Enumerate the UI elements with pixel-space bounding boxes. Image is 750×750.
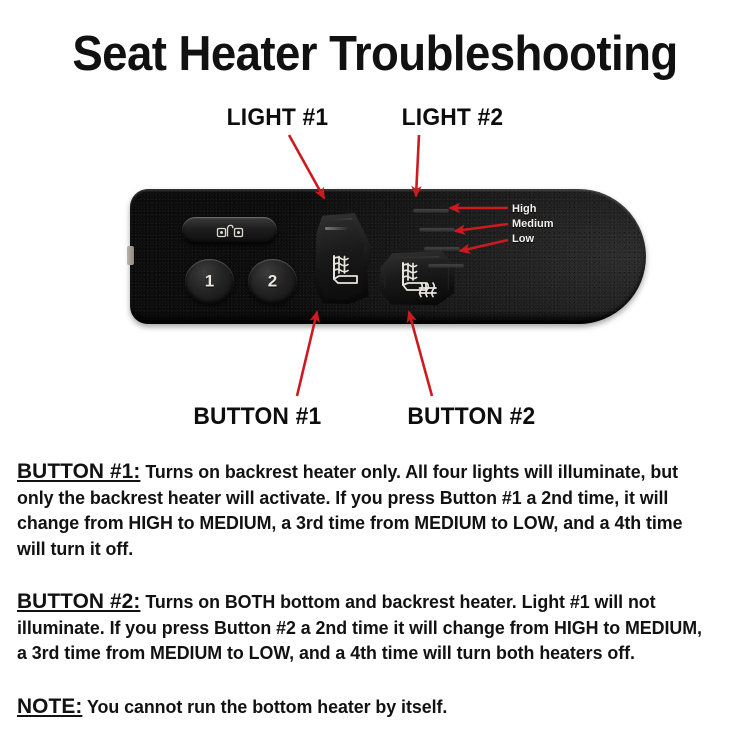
- seat-position-memory-icon: [215, 223, 245, 239]
- arrow-light-1: [289, 135, 324, 198]
- arrow-light-2: [416, 135, 419, 196]
- panel-edge-notch: [127, 246, 134, 265]
- seat-backrest-heat-icon: [322, 249, 364, 293]
- indicator-bar-1: [413, 208, 449, 213]
- memory-preset-button-2[interactable]: 2: [248, 259, 297, 304]
- indicator-bar-2: [419, 227, 455, 232]
- indicator-bar-4: [428, 263, 464, 268]
- seat-memory-pill-button[interactable]: [182, 217, 277, 244]
- level-label-low: Low: [512, 233, 534, 245]
- memory-preset-button-1-label: 1: [185, 271, 234, 291]
- indicator-bar-3: [424, 246, 460, 251]
- memory-preset-button-1[interactable]: 1: [185, 259, 234, 304]
- paragraph-button-2-lead: BUTTON #2:: [17, 589, 140, 613]
- button-1-highlight: [325, 227, 347, 230]
- full-seat-heater-button[interactable]: [379, 251, 454, 305]
- arrow-button-1: [297, 312, 317, 396]
- paragraph-button-2: BUTTON #2: Turns on BOTH bottom and back…: [17, 589, 713, 666]
- seat-heater-troubleshooting-infographic: Seat Heater Troubleshooting LIGHT #1 LIG…: [0, 0, 750, 750]
- level-label-medium: Medium: [512, 218, 554, 230]
- paragraph-note: NOTE: You cannot run the bottom heater b…: [17, 694, 713, 720]
- paragraph-note-body: You cannot run the bottom heater by itse…: [82, 696, 447, 717]
- arrow-level-medium: [455, 224, 508, 231]
- paragraph-note-lead: NOTE:: [17, 694, 82, 718]
- backrest-heater-button[interactable]: [313, 213, 371, 304]
- level-label-high: High: [512, 203, 536, 215]
- paragraph-button-1: BUTTON #1: Turns on backrest heater only…: [17, 459, 713, 561]
- arrow-button-2: [409, 312, 432, 396]
- memory-preset-button-2-label: 2: [248, 271, 297, 291]
- paragraph-button-1-lead: BUTTON #1:: [17, 459, 140, 483]
- arrow-level-low: [460, 240, 508, 251]
